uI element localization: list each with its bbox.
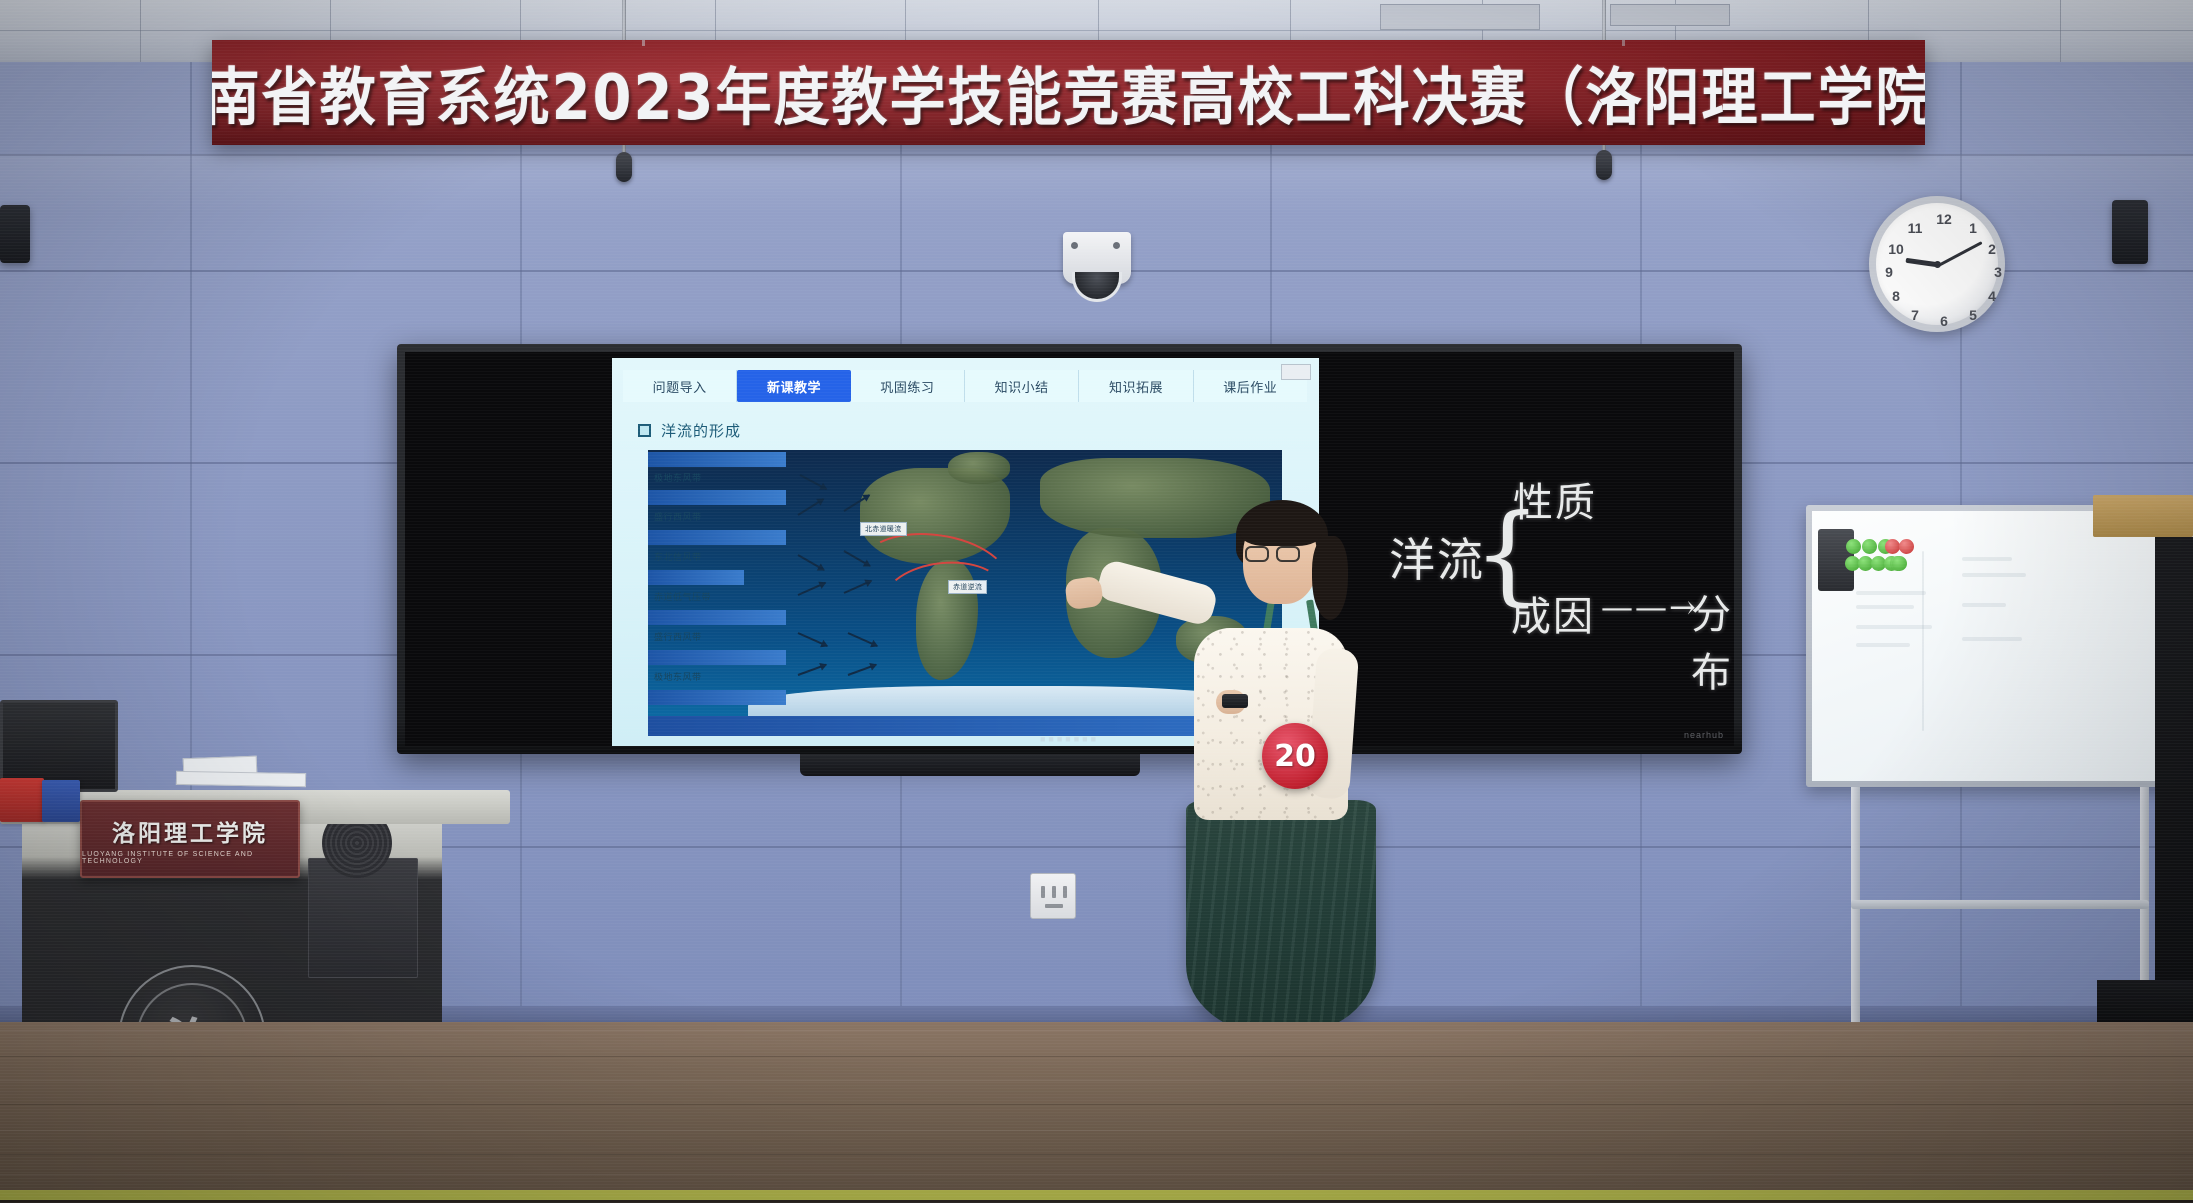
clock-number: 10	[1888, 241, 1904, 257]
teacher-glasses	[1245, 546, 1269, 562]
magnet-green[interactable]	[1862, 539, 1877, 554]
chalk-topic-yangliu: 洋流	[1389, 524, 1485, 590]
wind-belt-label-4: 盛行西风带	[654, 628, 786, 645]
slide-heading-text: 洋流的形成	[661, 420, 741, 441]
wind-arrow	[798, 664, 827, 676]
wall-speaker-left	[0, 205, 30, 263]
contestant-number-badge: 20	[1262, 723, 1328, 789]
wind-arrow	[848, 632, 878, 647]
microphone-head	[616, 152, 632, 182]
clock-number: 9	[1881, 264, 1897, 280]
whiteboard-crossbar	[1851, 900, 2149, 909]
clock-number: 4	[1984, 288, 2000, 304]
chalk-branch-distribution: 分布	[1691, 582, 1734, 698]
ceiling-vent	[1380, 4, 1540, 30]
contestant-number: 20	[1274, 739, 1316, 774]
wind-belt-label-3: 赤道低气压带	[654, 588, 786, 605]
clock-number: 3	[1990, 264, 2006, 280]
side-dark-panel	[2097, 980, 2193, 1022]
display-screen[interactable]: 问题导入 新课教学 巩固练习 知识小结 知识拓展 课后作业 洋流的形成	[405, 352, 1734, 746]
display-brand-label: ■■■■■■■	[405, 734, 1734, 744]
classroom-scene: 河南省教育系统2023年度教学技能竞赛高校工科决赛（洛阳理工学院） 12 1 2…	[0, 0, 2193, 1203]
side-cabinet	[2093, 495, 2193, 537]
magnet-green[interactable]	[1846, 539, 1861, 554]
chalk-branch-property: 性质	[1513, 470, 1597, 528]
teacher-hair-fringe	[1240, 504, 1322, 546]
display-brand-logo: nearhub	[1684, 730, 1724, 740]
tab-extension[interactable]: 知识拓展	[1079, 370, 1193, 402]
tab-consolidation[interactable]: 巩固练习	[851, 370, 965, 402]
lectern-nameplate-en: LUOYANG INSTITUTE OF SCIENCE AND TECHNOL…	[82, 851, 298, 865]
wind-belt-label-2: 东北信风带	[654, 548, 786, 565]
clock-number: 7	[1907, 307, 1923, 323]
side-dark-panel	[2155, 537, 2193, 1022]
map-tag-north-equatorial-current: 北赤道暖流	[860, 522, 907, 536]
floor-marking-line	[0, 1190, 2193, 1200]
tab-problem-intro[interactable]: 问题导入	[623, 370, 737, 402]
latitude-band-30n	[648, 530, 786, 545]
book-blue[interactable]	[42, 780, 80, 822]
display-stand	[800, 754, 1140, 776]
landmass-greenland	[948, 452, 1010, 484]
wind-arrow	[848, 664, 877, 676]
clock-center-pin	[1934, 261, 1941, 268]
wall-clock: 12 1 2 3 4 5 6 7 8 9 10 11	[1869, 196, 2005, 332]
magnet-red[interactable]	[1899, 539, 1914, 554]
teacher-skirt	[1186, 800, 1376, 1035]
wind-arrow	[797, 498, 824, 516]
clock-number: 2	[1984, 241, 2000, 257]
whiteboard-surface[interactable]	[1812, 511, 2187, 781]
clock-minute-hand	[1938, 241, 1982, 266]
chalk-branch-cause: 成因	[1511, 584, 1595, 642]
clock-number: 5	[1965, 307, 1981, 323]
tab-summary[interactable]: 知识小结	[965, 370, 1079, 402]
slide-tab-bar[interactable]: 问题导入 新课教学 巩固练习 知识小结 知识拓展 课后作业	[623, 370, 1307, 402]
wall-speaker-right	[2112, 200, 2148, 264]
microphone-head	[1596, 150, 1612, 180]
wind-belt-label-1: 盛行西风带	[654, 508, 786, 525]
lectern-nameplate: 洛阳理工学院 LUOYANG INSTITUTE OF SCIENCE AND …	[80, 800, 300, 878]
latitude-band-60n	[648, 490, 786, 505]
clock-number: 12	[1936, 211, 1952, 227]
book-red[interactable]	[0, 778, 44, 822]
landmass-eurasia	[1040, 458, 1270, 538]
interactive-smart-display[interactable]: 问题导入 新课教学 巩固练习 知识小结 知识拓展 课后作业 洋流的形成	[397, 344, 1742, 754]
wind-arrow	[798, 582, 826, 596]
latitude-band-60s	[648, 650, 786, 665]
banner-title: 河南省教育系统2023年度教学技能竞赛高校工科决赛（洛阳理工学院）	[212, 47, 1925, 138]
magnet-red[interactable]	[1885, 539, 1900, 554]
map-tag-equatorial-countercurrent: 赤道逆流	[948, 580, 987, 594]
wind-arrow	[800, 474, 827, 490]
ceiling-vent	[1610, 4, 1730, 26]
clock-number: 1	[1965, 220, 1981, 236]
chalk-arrow: ——→	[1601, 588, 1698, 626]
latitude-band-90s	[648, 690, 786, 705]
latitude-band-equator	[648, 570, 744, 585]
mobile-whiteboard[interactable]	[1806, 505, 2193, 787]
wind-belt-label-5: 极地东风带	[654, 668, 786, 685]
slide-footer-bar	[648, 716, 1282, 736]
wind-arrow	[798, 554, 825, 571]
clock-number: 11	[1907, 220, 1923, 236]
latitude-band-90n	[648, 452, 786, 467]
competition-banner: 河南省教育系统2023年度教学技能竞赛高校工科决赛（洛阳理工学院）	[212, 40, 1925, 145]
teacher-ponytail	[1312, 536, 1348, 620]
magnet-green[interactable]	[1892, 556, 1907, 571]
classroom-floor	[0, 1022, 2193, 1203]
square-bullet-icon	[638, 424, 651, 437]
clock-number: 8	[1888, 288, 1904, 304]
lectern-nameplate-cn: 洛阳理工学院	[112, 814, 268, 848]
presentation-clicker[interactable]	[1222, 694, 1248, 708]
clock-number: 6	[1936, 313, 1952, 329]
wind-belt-label-0: 极地东风带	[654, 469, 786, 486]
wind-arrow	[798, 632, 828, 647]
paper-sheet[interactable]	[176, 771, 306, 787]
teacher-glasses	[1276, 546, 1300, 562]
wall-outlet[interactable]	[1030, 873, 1076, 919]
slide-corner-badge	[1281, 364, 1311, 380]
tab-new-lesson[interactable]: 新课教学	[737, 370, 850, 402]
latitude-band-30s	[648, 610, 786, 625]
slide-heading: 洋流的形成	[638, 420, 741, 441]
